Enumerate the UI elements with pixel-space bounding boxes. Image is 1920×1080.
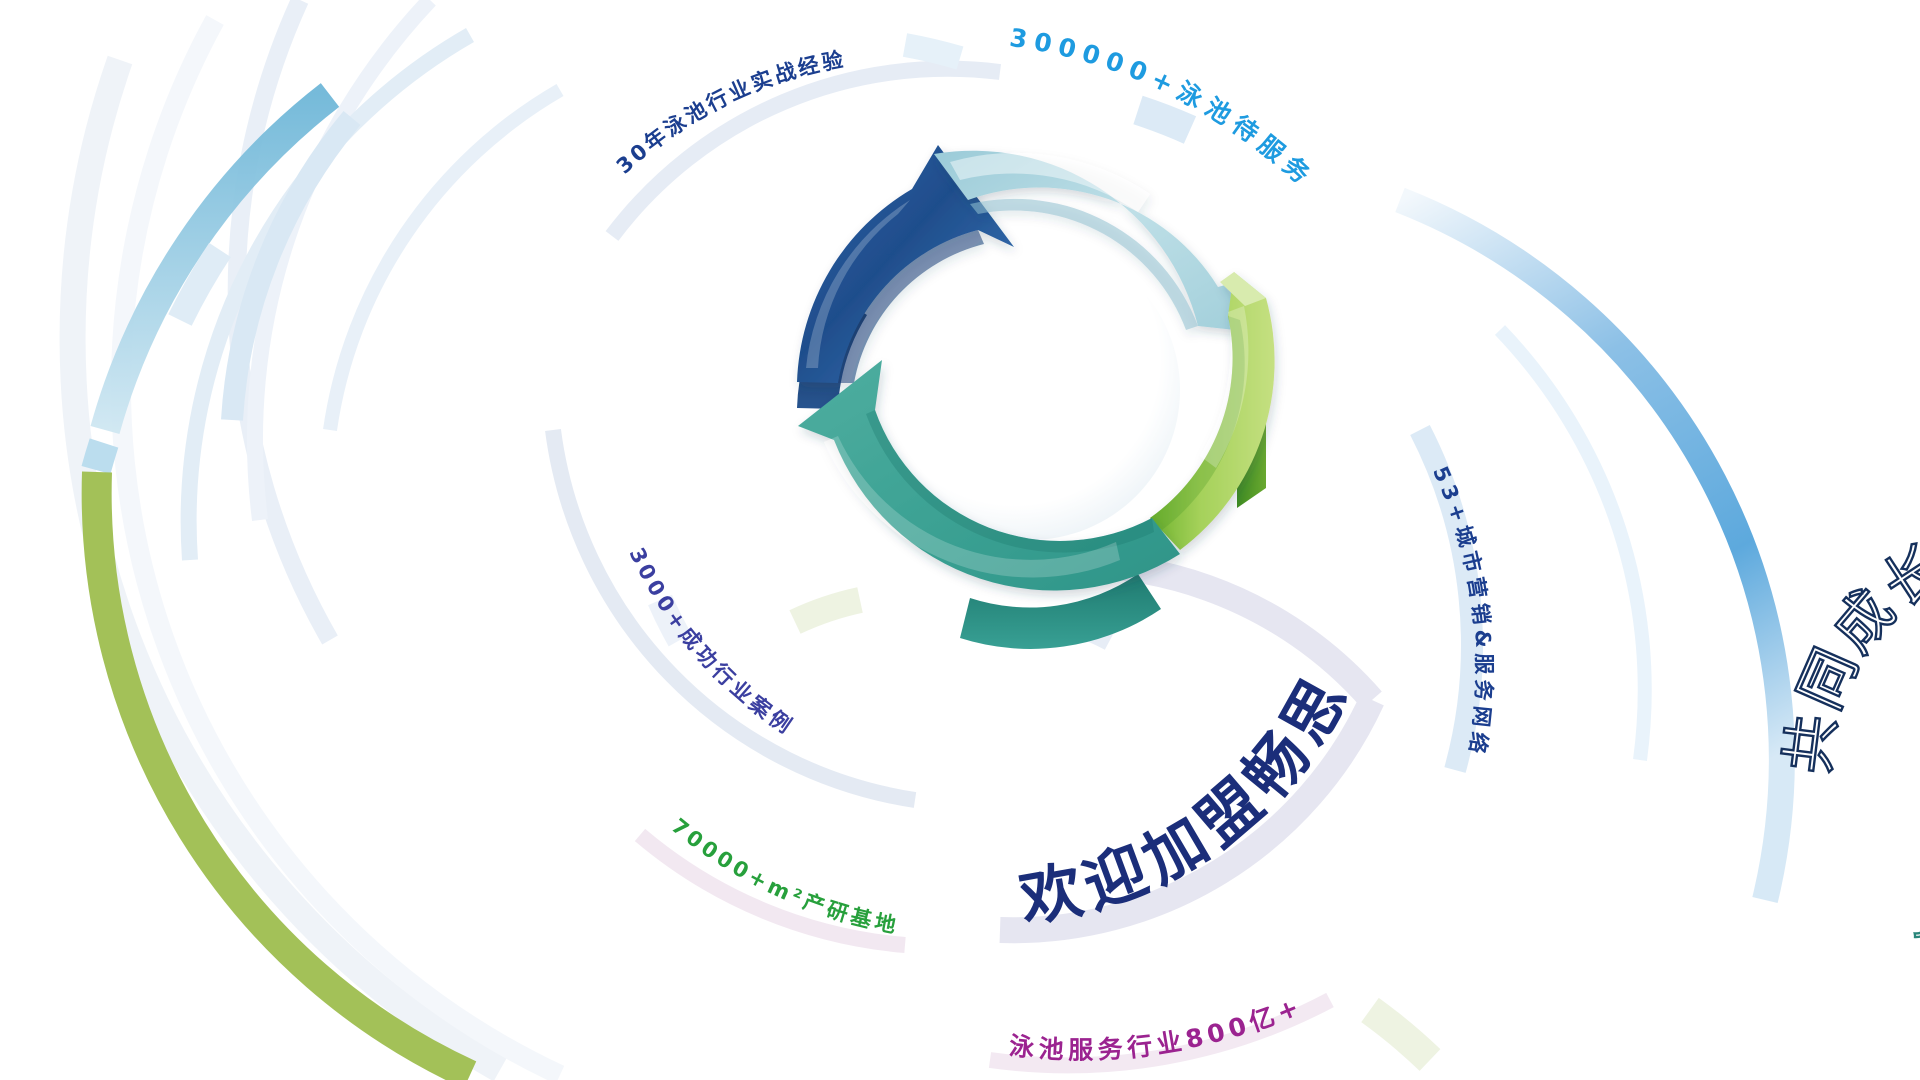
segment-growth-label: 共同成长 xyxy=(1773,529,1920,777)
arc-ice-3 xyxy=(330,90,560,430)
arc-blue-outer-left-2 xyxy=(96,443,104,470)
label-experience: 30年泳池行业实战经验 xyxy=(612,47,848,178)
cycle-diagram-svg: 共同成长 持续发展 分享利益 赋能行业 30年泳池行业实战经验 300000+泳… xyxy=(0,0,1920,1080)
diagram-canvas: 共同成长 持续发展 分享利益 赋能行业 30年泳池行业实战经验 300000+泳… xyxy=(0,0,1920,1080)
arc-blue-right-2 xyxy=(1500,330,1645,760)
segment-empower-label: 赋能行业 xyxy=(1905,888,1920,1013)
